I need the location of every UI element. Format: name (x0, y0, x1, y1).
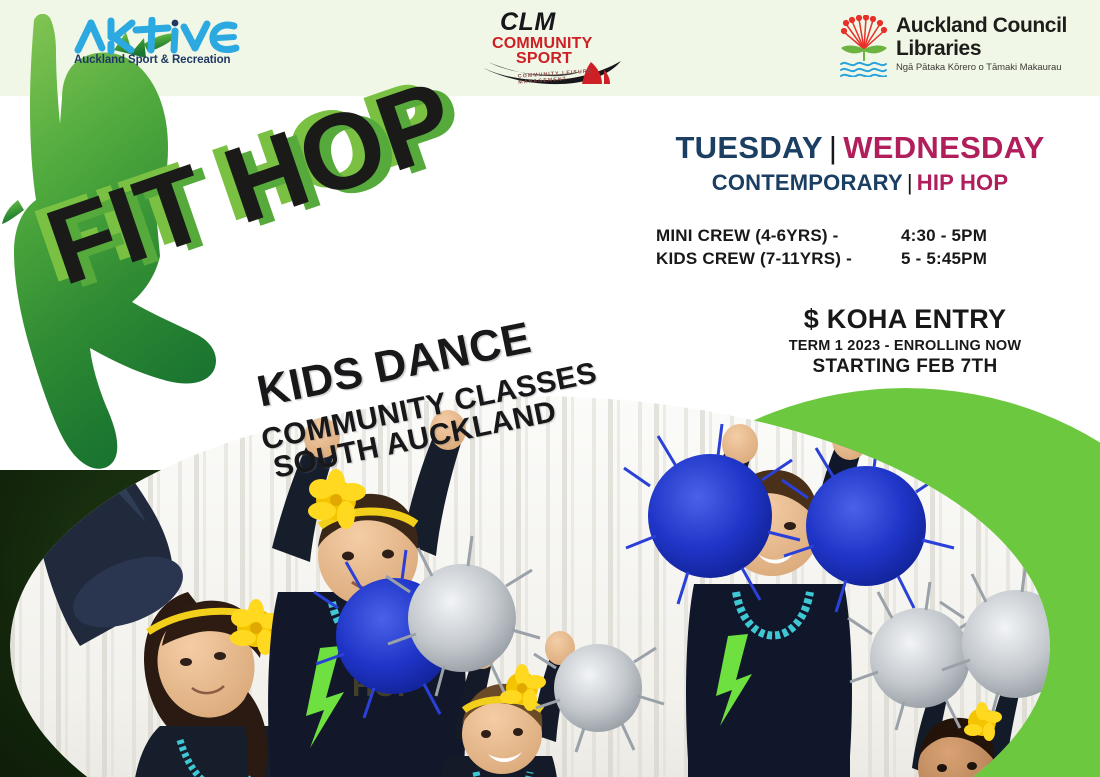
days-line: TUESDAY|WEDNESDAY (640, 132, 1080, 165)
clm-wordmark: CLM (500, 8, 556, 37)
logo-auckland-council-libraries[interactable]: Auckland Council Libraries Ngā Pātaka Kō… (838, 13, 1078, 83)
entry-price: $ KOHA ENTRY (730, 304, 1080, 335)
aktive-wordmark-icon (74, 17, 249, 55)
styles-separator: | (907, 170, 913, 195)
page-title: FIT HOP FIT HOP FIT HOP (36, 68, 464, 296)
day-wednesday: WEDNESDAY (843, 130, 1044, 165)
title-black-layer: FIT HOP (32, 57, 468, 308)
entry-term: TERM 1 2023 - ENROLLING NOW (730, 338, 1080, 354)
days-separator: | (829, 130, 837, 165)
logo-aktive[interactable]: Auckland Sport & Recreation (74, 17, 249, 79)
title-block: FIT HOP FIT HOP FIT HOP KIDS DANCE COMMU… (0, 90, 640, 410)
day-tuesday: TUESDAY (675, 130, 822, 165)
logo-row: Auckland Sport & Recreation CLM COMMUNIT… (0, 0, 1100, 96)
logo-clm-community-sport[interactable]: CLM COMMUNITY SPORT COMMUNITY LEISURE MA… (478, 8, 623, 86)
aktive-tagline: Auckland Sport & Recreation (74, 54, 249, 66)
styles-line: CONTEMPORARY|HIP HOP (640, 171, 1080, 194)
pohutukawa-flower-icon (838, 15, 890, 77)
crew-schedule-list: MINI CREW (4-6YRS) - 4:30 - 5PM KIDS CRE… (640, 225, 1080, 271)
acl-line2: Libraries (896, 37, 981, 61)
crew-row: MINI CREW (4-6YRS) - 4:30 - 5PM (656, 225, 1080, 248)
entry-start-date: STARTING FEB 7TH (730, 356, 1080, 378)
crew-time: 4:30 - 5PM (901, 225, 987, 248)
event-flyer: Auckland Sport & Recreation CLM COMMUNIT… (0, 0, 1100, 777)
crew-row: KIDS CREW (7-11YRS) - 5 - 5:45PM (656, 248, 1080, 271)
info-panel: TUESDAY|WEDNESDAY CONTEMPORARY|HIP HOP M… (640, 132, 1080, 378)
crew-name: MINI CREW (4-6YRS) - (656, 225, 901, 248)
crew-name: KIDS CREW (7-11YRS) - (656, 248, 901, 271)
entry-details: $ KOHA ENTRY TERM 1 2023 - ENROLLING NOW… (640, 304, 1080, 378)
style-contemporary: CONTEMPORARY (712, 170, 903, 195)
style-hiphop: HIP HOP (917, 170, 1008, 195)
acl-line1: Auckland Council (896, 14, 1067, 38)
crew-time: 5 - 5:45PM (901, 248, 987, 271)
acl-maori-name: Ngā Pātaka Kōrero o Tāmaki Makaurau (896, 62, 1061, 73)
